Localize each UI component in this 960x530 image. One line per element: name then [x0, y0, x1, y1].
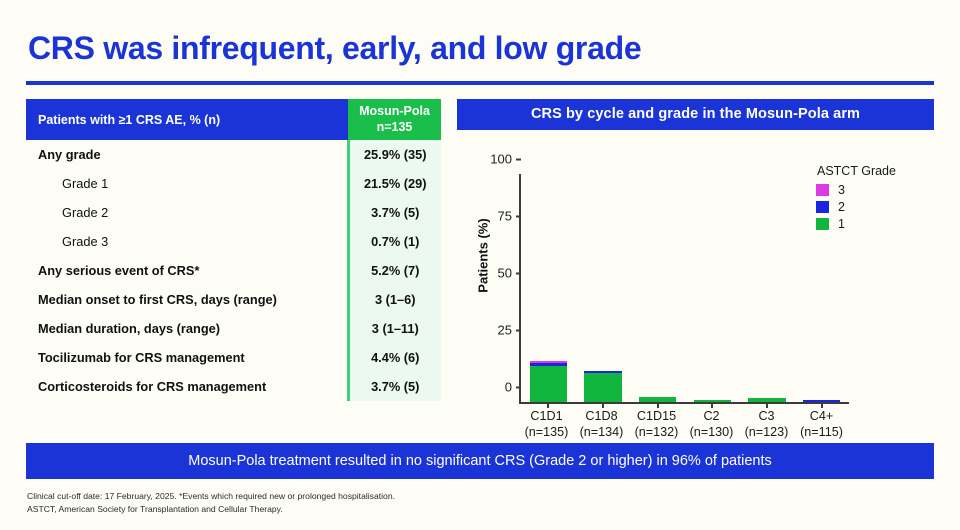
page-title: CRS was infrequent, early, and low grade: [28, 30, 641, 67]
x-axis-cycle-name: C4+: [794, 408, 849, 424]
table-row-label: Median duration, days (range): [26, 314, 348, 343]
table-row-label: Any grade: [26, 140, 348, 169]
x-axis-cycle-n: (n=132): [629, 424, 684, 440]
table-row: Tocilizumab for CRS management4.4% (6): [26, 343, 441, 372]
table-header-arm-name: Mosun-Pola: [352, 104, 437, 120]
table-row-value: 3 (1–11): [348, 314, 441, 343]
footnote-line-1: Clinical cut-off date: 17 February, 2025…: [27, 490, 395, 503]
summary-banner: Mosun-Pola treatment resulted in no sign…: [26, 443, 934, 479]
table-row-value: 21.5% (29): [348, 169, 441, 198]
bar-group: [521, 174, 576, 402]
table-row-label: Corticosteroids for CRS management: [26, 372, 348, 401]
y-axis-tick-label: 75: [498, 209, 521, 224]
bar-group: [740, 174, 795, 402]
plot-wrapper: ASTCT Grade 321 Patients (%) 0255075100 …: [457, 130, 934, 420]
y-axis-tick-label: 0: [505, 380, 521, 395]
table-row-label: Any serious event of CRS*: [26, 256, 348, 285]
table-row-value: 4.4% (6): [348, 343, 441, 372]
table-row: Median onset to first CRS, days (range)3…: [26, 285, 441, 314]
x-axis-label: C1D1(n=135): [519, 408, 574, 441]
table-header-value: Mosun-Pola n=135: [348, 99, 441, 140]
bar-group: [576, 174, 631, 402]
table-row-value: 3 (1–6): [348, 285, 441, 314]
bar-group: [630, 174, 685, 402]
table-row: Any grade25.9% (35): [26, 140, 441, 169]
x-axis-label: C4+(n=115): [794, 408, 849, 441]
footnote-line-2: ASTCT, American Society for Transplantat…: [27, 503, 395, 516]
table-header-row: Patients with ≥1 CRS AE, % (n) Mosun-Pol…: [26, 99, 441, 140]
bar-group: [794, 174, 849, 402]
table-row-label: Grade 1: [26, 169, 348, 198]
y-axis-tick-label: 25: [498, 323, 521, 338]
x-axis-label: C1D8(n=134): [574, 408, 629, 441]
x-axis-cycle-name: C3: [739, 408, 794, 424]
table-row: Any serious event of CRS*5.2% (7): [26, 256, 441, 285]
crs-summary-table: Patients with ≥1 CRS AE, % (n) Mosun-Pol…: [26, 99, 441, 401]
x-axis-cycle-name: C1D15: [629, 408, 684, 424]
table-row-label: Grade 2: [26, 198, 348, 227]
table-row-value: 3.7% (5): [348, 198, 441, 227]
table-row: Corticosteroids for CRS management3.7% (…: [26, 372, 441, 401]
table-row: Grade 121.5% (29): [26, 169, 441, 198]
x-axis-cycle-n: (n=134): [574, 424, 629, 440]
plot-area: 0255075100: [519, 174, 849, 404]
table-row-value: 25.9% (35): [348, 140, 441, 169]
bar-segment-grade-1: [530, 366, 567, 402]
x-axis-cycle-n: (n=135): [519, 424, 574, 440]
table-body: Any grade25.9% (35)Grade 121.5% (29)Grad…: [26, 140, 441, 401]
table-row-value: 5.2% (7): [348, 256, 441, 285]
bar-stack: [530, 361, 567, 402]
y-axis-label: Patients (%): [476, 196, 491, 316]
table-row-label: Median onset to first CRS, days (range): [26, 285, 348, 314]
bar-stack: [584, 371, 621, 402]
table-row-label: Grade 3: [26, 227, 348, 256]
x-axis-labels: C1D1(n=135)C1D8(n=134)C1D15(n=132)C2(n=1…: [519, 408, 849, 441]
bar-segment-grade-1: [584, 373, 621, 402]
x-axis-cycle-n: (n=130): [684, 424, 739, 440]
title-underline-rule: [26, 81, 934, 85]
table-row-label: Tocilizumab for CRS management: [26, 343, 348, 372]
table-row-value: 3.7% (5): [348, 372, 441, 401]
x-axis-label: C2(n=130): [684, 408, 739, 441]
table-row-value: 0.7% (1): [348, 227, 441, 256]
bar-series-group: [521, 174, 849, 402]
x-axis-label: C3(n=123): [739, 408, 794, 441]
y-axis-tick-label: 100: [490, 152, 521, 167]
table-row: Median duration, days (range)3 (1–11): [26, 314, 441, 343]
table-header-arm-n: n=135: [352, 120, 437, 136]
table-row: Grade 23.7% (5): [26, 198, 441, 227]
y-axis-tick-label: 50: [498, 266, 521, 281]
x-axis-cycle-name: C1D1: [519, 408, 574, 424]
x-axis-cycle-name: C1D8: [574, 408, 629, 424]
x-axis-label: C1D15(n=132): [629, 408, 684, 441]
chart-panel-title: CRS by cycle and grade in the Mosun-Pola…: [457, 99, 934, 130]
x-axis-cycle-n: (n=123): [739, 424, 794, 440]
bar-group: [685, 174, 740, 402]
x-axis-cycle-n: (n=115): [794, 424, 849, 440]
table-header-label: Patients with ≥1 CRS AE, % (n): [26, 99, 348, 140]
x-axis-cycle-name: C2: [684, 408, 739, 424]
footnotes: Clinical cut-off date: 17 February, 2025…: [27, 490, 395, 516]
chart-panel: CRS by cycle and grade in the Mosun-Pola…: [457, 99, 934, 429]
table-row: Grade 30.7% (1): [26, 227, 441, 256]
